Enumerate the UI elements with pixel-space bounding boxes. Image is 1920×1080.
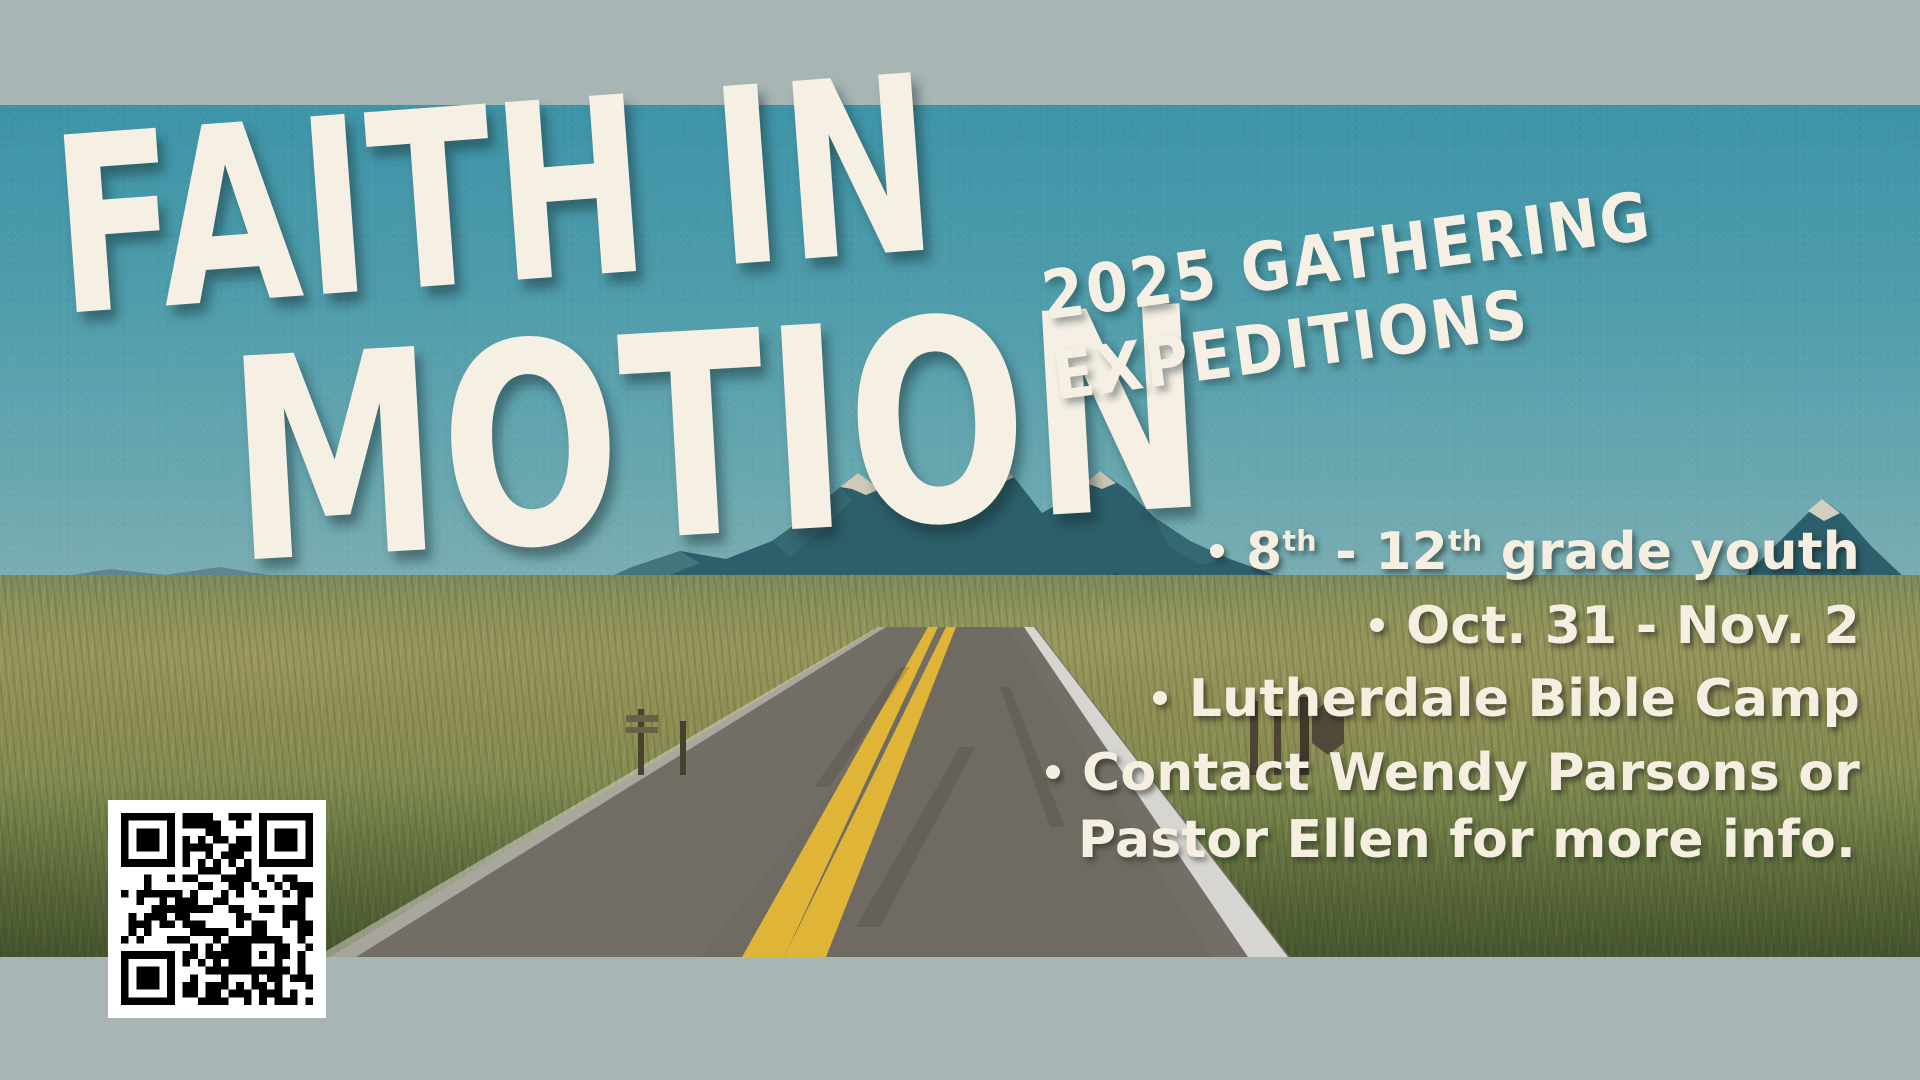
bullet-dot-icon	[1153, 691, 1167, 705]
detail-grade-mid: - 12	[1317, 522, 1448, 582]
roadside-post-left	[620, 705, 710, 775]
bullet-dot-icon	[1046, 765, 1060, 779]
poster-canvas: FAITH IN MOTION 2025 GATHERING EXPEDITIO…	[0, 0, 1920, 1080]
bullet-dot-icon	[1210, 544, 1224, 558]
detail-contact-text: Contact Wendy Parsons or	[1082, 743, 1860, 803]
detail-grade-suffix: grade youth	[1482, 522, 1860, 582]
detail-grade-sup-1: th	[1282, 524, 1316, 558]
detail-dates-text: Oct. 31 - Nov. 2	[1406, 596, 1860, 656]
detail-contact-continued: Pastor Ellen for more info.	[800, 808, 1860, 874]
detail-item-grades: 8th - 12th grade youth	[800, 520, 1860, 586]
bullet-dot-icon	[1370, 618, 1384, 632]
detail-grade-prefix: 8	[1246, 522, 1282, 582]
detail-location-text: Lutherdale Bible Camp	[1189, 669, 1860, 729]
detail-item-dates: Oct. 31 - Nov. 2	[800, 594, 1860, 660]
detail-item-contact: Contact Wendy Parsons or	[800, 741, 1860, 807]
event-details-list: 8th - 12th grade youth Oct. 31 - Nov. 2 …	[800, 520, 1860, 874]
qr-code[interactable]	[108, 800, 326, 1018]
top-border-bar	[0, 0, 1920, 105]
qr-code-canvas[interactable]	[121, 813, 313, 1005]
detail-grade-sup-2: th	[1448, 524, 1482, 558]
detail-item-location: Lutherdale Bible Camp	[800, 667, 1860, 733]
